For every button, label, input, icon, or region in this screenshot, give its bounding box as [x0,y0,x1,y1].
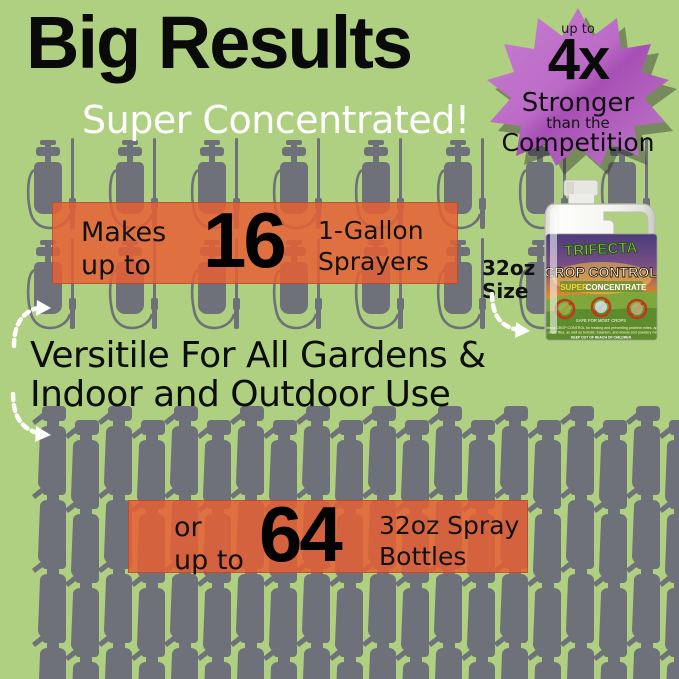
spray-bottle-icon [195,566,241,658]
spray-bottle-icon [525,566,571,658]
spray-bottle-icon [129,566,175,658]
spray-bottle-icon [591,640,637,679]
versatility-line2: Indoor and Outdoor Use [30,375,510,414]
bottles-count: 64 [259,495,340,573]
spray-bottle-icon [360,404,406,496]
spray-bottle-icon [558,552,604,644]
spray-bottle-icon [228,404,274,496]
spray-bottle-icon [63,492,109,584]
stronger-badge: up to 4x Stronger than the Competition [487,6,679,176]
sprayers-banner-prefix: Makes up to [81,216,166,282]
spray-bottle-icon [459,566,505,658]
spray-bottle-icon [195,418,241,510]
spray-bottle-icon [63,640,109,679]
bottles-banner-prefix: or up to [174,511,244,577]
spray-bottle-icon [195,640,241,679]
spray-bottle-icon [459,418,505,510]
bottles-suffix-line1: 32oz Spray [379,510,519,541]
badge-multiplier: 4x [487,31,669,89]
spray-bottle-icon [525,492,571,584]
badge-stronger-label: Stronger [487,90,669,116]
spray-bottle-icon [459,640,505,679]
sprayers-suffix-line1: 1-Gallon [318,215,429,246]
bottles-prefix-line1: or [174,511,244,544]
spray-bottle-icon [30,626,76,679]
spray-bottle-icon [327,640,373,679]
sprayers-suffix-line2: Sprayers [318,246,429,277]
spray-bottle-icon [30,478,76,570]
bottles-banner-suffix: 32oz Spray Bottles [379,510,519,572]
badge-text-group: up to 4x Stronger than the Competition [487,6,669,166]
bottles-suffix-line2: Bottles [379,541,519,572]
bottles-banner: or up to 64 32oz Spray Bottles [128,500,528,573]
spray-bottle-icon [162,626,208,679]
spray-bottle-icon [591,566,637,658]
spray-bottle-icon [624,626,670,679]
product-bottle-image: TRIFECTA CROP CONTROL SUPER CONCENTRATE … [524,178,679,343]
versatility-line1: Versitile For All Gardens & [30,336,510,375]
size-caption: 32oz Size [482,257,535,303]
label-super: SUPER [560,283,588,292]
spray-bottle-icon [624,552,670,644]
spray-bottle-icon [261,640,307,679]
spray-bottle-icon [426,404,472,496]
spray-bottle-icon [63,418,109,510]
size-caption-line2: Size [482,280,535,303]
page-subtitle: Super Concentrated! [82,100,470,140]
sprayers-banner: Makes up to 16 1-Gallon Sprayers [52,202,458,284]
spray-bottle-icon [30,404,76,496]
spray-bottle-icon [294,626,340,679]
spray-bottle-icon [393,640,439,679]
spray-bottle-icon [591,418,637,510]
sprayers-prefix-line1: Makes [81,216,166,249]
spray-bottle-icon [393,418,439,510]
spray-bottle-icon [657,492,679,584]
size-caption-line1: 32oz [482,257,535,280]
spray-bottle-icon [525,640,571,679]
infographic-poster: Big Results Super Concentrated! up to [0,0,679,679]
spray-bottle-icon [657,640,679,679]
spray-bottle-icon [591,492,637,584]
label-safe-line: SAFE FOR MOST CROPS [576,318,626,323]
spray-bottle-icon [327,566,373,658]
sprayers-banner-suffix: 1-Gallon Sprayers [318,215,429,277]
bottles-prefix-line2: up to [174,544,244,577]
spray-bottle-icon [525,418,571,510]
label-product-name: CROP CONTROL [544,264,658,280]
spray-bottle-icon [624,404,670,496]
sprayers-count: 16 [203,201,284,279]
spray-bottle-icon [96,404,142,496]
spray-bottle-icon [294,404,340,496]
spray-bottle-icon [492,626,538,679]
spray-bottle-icon [129,418,175,510]
spray-bottle-icon [558,478,604,570]
spray-bottle-icon [63,566,109,658]
label-warning: KEEP OUT OF REACH OF CHILDREN [571,336,632,340]
spray-bottle-icon [492,404,538,496]
spray-bottle-icon [657,418,679,510]
spray-bottle-icon [162,404,208,496]
spray-bottle-icon [96,626,142,679]
spray-bottle-icon [393,566,439,658]
sprayers-prefix-line2: up to [81,249,166,282]
label-concentrate: CONCENTRATE [586,283,647,292]
spray-bottle-icon [624,478,670,570]
spray-bottle-icon [426,626,472,679]
spray-bottle-icon [30,552,76,644]
spray-bottle-icon [558,626,604,679]
page-title: Big Results [26,6,411,80]
spray-bottle-icon [228,626,274,679]
badge-competition-label: Competition [487,130,669,155]
spray-bottle-icon [558,404,604,496]
spray-bottle-icon [129,640,175,679]
spray-bottle-icon [360,626,406,679]
spray-bottle-icon [261,566,307,658]
versatility-text: Versitile For All Gardens & Indoor and O… [30,336,510,414]
spray-bottle-icon [657,566,679,658]
